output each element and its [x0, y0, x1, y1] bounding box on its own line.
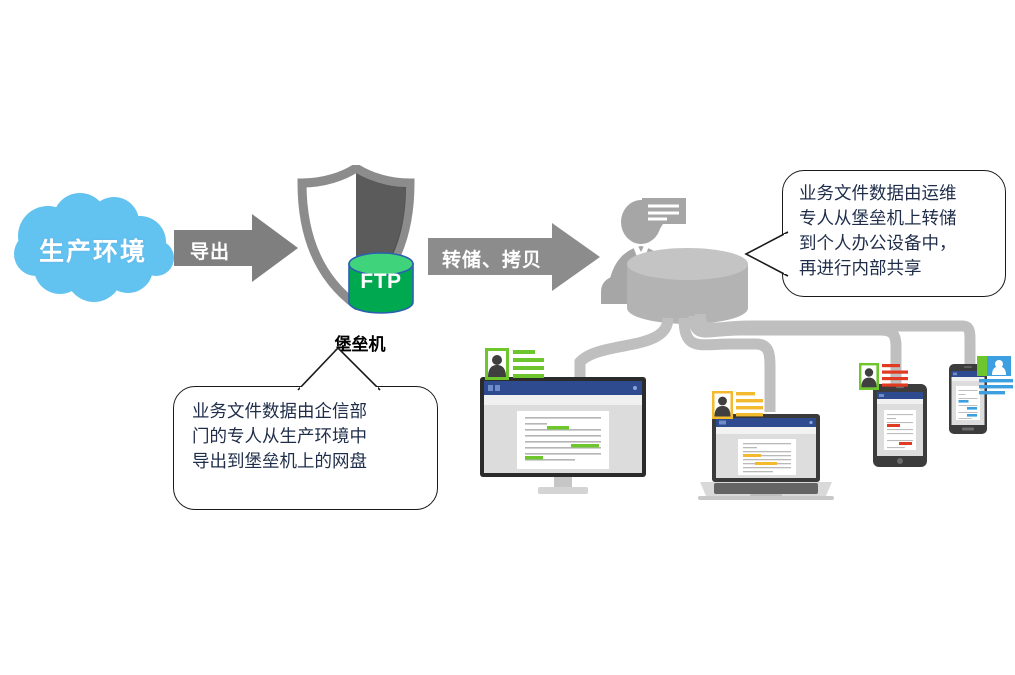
user-card-tablet [859, 361, 911, 393]
user-card-laptop [712, 389, 766, 422]
transfer-copy-arrow-label: 转储、拷贝 [442, 245, 542, 272]
user-card-icon [485, 346, 547, 384]
callout-share-note: 业务文件数据由运维 专人从堡垒机上转储 到个人办公设备中， 再进行内部共享 [782, 170, 1006, 297]
cloud-label: 生产环境 [8, 232, 178, 268]
connector-pipes [0, 0, 1015, 675]
user-card-icon [977, 356, 1015, 396]
monitor-illustration [478, 375, 650, 497]
tablet [872, 383, 928, 468]
laptop-illustration [698, 412, 834, 502]
callout-export-note: 业务文件数据由企信部 门的专人从生产环境中 导出到堡垒机上的网盘 [173, 386, 438, 510]
callout-share-note-text: 业务文件数据由运维 专人从堡垒机上转储 到个人办公设备中， 再进行内部共享 [799, 181, 995, 281]
laptop [698, 412, 834, 502]
ftp-label: FTP [347, 270, 415, 294]
diagram-canvas: 生产环境 导出 FTP 堡垒机 转储、拷贝 [0, 0, 1015, 675]
callout-share-note-tail [742, 228, 790, 280]
user-card-phone [977, 356, 1015, 396]
pipe-to-monitor [580, 318, 668, 378]
callout-export-note-text: 业务文件数据由企信部 门的专人从生产环境中 导出到堡垒机上的网盘 [192, 399, 423, 474]
export-arrow-label: 导出 [190, 237, 230, 264]
user-card-desktop [485, 346, 547, 384]
tablet-illustration [872, 383, 928, 468]
callout-export-note-tail [294, 344, 384, 392]
desktop-monitor [478, 375, 650, 497]
user-card-icon [859, 361, 911, 393]
user-card-icon [712, 389, 766, 422]
